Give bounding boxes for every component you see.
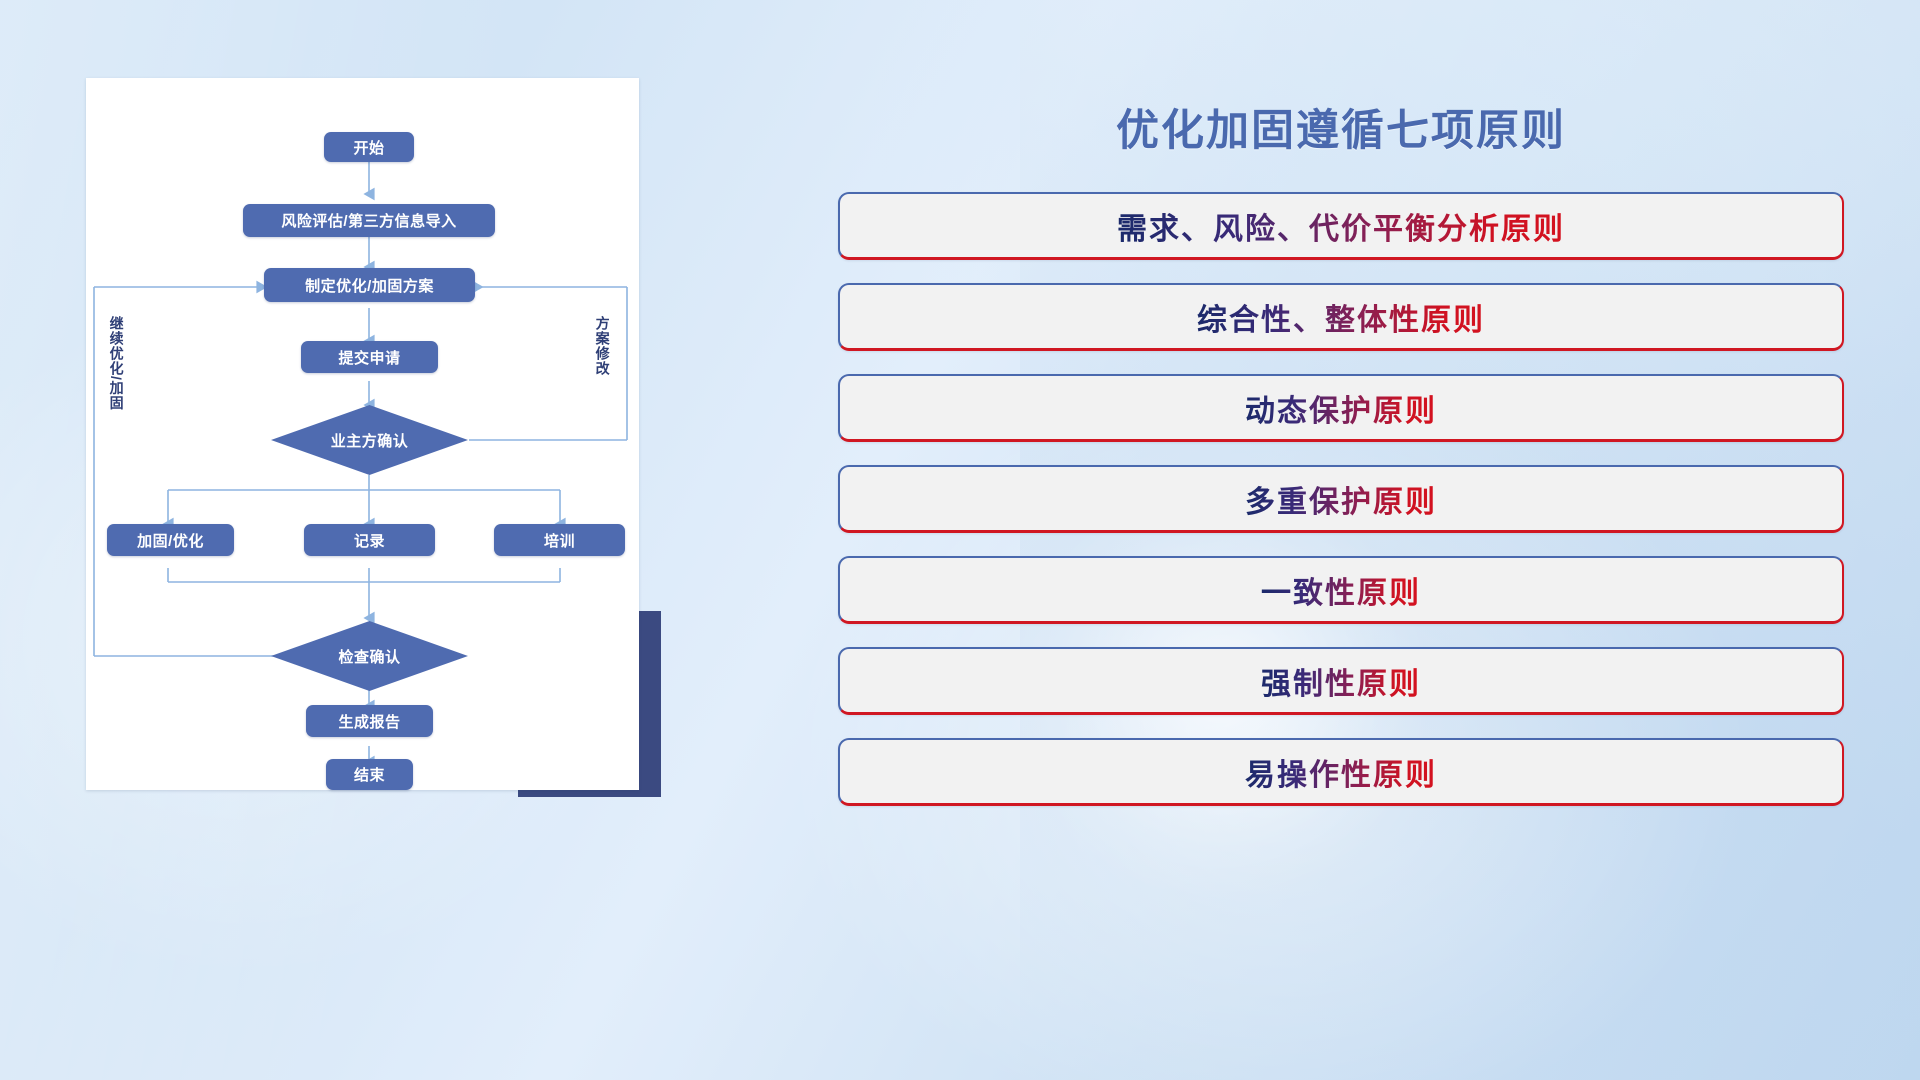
flow-node-end[interactable]: 结束 — [326, 759, 413, 790]
principle-label: 一致性原则 — [1261, 568, 1421, 612]
edge-label-right-loop: 方案修改 — [594, 316, 610, 376]
principle-label: 多重保护原则 — [1245, 477, 1437, 521]
flow-node-risk-assessment[interactable]: 风险评估/第三方信息导入 — [243, 204, 495, 237]
principle-label: 综合性、整体性原则 — [1197, 295, 1485, 339]
flow-node-plan[interactable]: 制定优化/加固方案 — [264, 268, 475, 302]
principle-item-7[interactable]: 易操作性原则 — [838, 738, 1844, 806]
flow-node-record[interactable]: 记录 — [304, 524, 435, 556]
flow-node-owner-confirm[interactable]: 业主方确认 — [271, 405, 468, 475]
principles-list: 需求、风险、代价平衡分析原则 综合性、整体性原则 动态保护原则 多重保护原则 一… — [838, 192, 1844, 829]
principle-item-1[interactable]: 需求、风险、代价平衡分析原则 — [838, 192, 1844, 260]
principles-panel: 优化加固遵循七项原则 需求、风险、代价平衡分析原则 综合性、整体性原则 动态保护… — [836, 80, 1846, 1020]
principle-item-5[interactable]: 一致性原则 — [838, 556, 1844, 624]
flow-node-submit-application[interactable]: 提交申请 — [301, 341, 438, 373]
flow-node-training[interactable]: 培训 — [494, 524, 625, 556]
flow-node-generate-report[interactable]: 生成报告 — [306, 705, 433, 737]
principle-label: 需求、风险、代价平衡分析原则 — [1117, 204, 1565, 248]
diamond-shape — [271, 621, 468, 691]
edge-label-left-loop: 继续优化/加固 — [108, 316, 124, 411]
page-title: 优化加固遵循七项原则 — [836, 96, 1846, 158]
principle-item-4[interactable]: 多重保护原则 — [838, 465, 1844, 533]
principle-label: 强制性原则 — [1261, 659, 1421, 703]
principle-item-3[interactable]: 动态保护原则 — [838, 374, 1844, 442]
principle-item-2[interactable]: 综合性、整体性原则 — [838, 283, 1844, 351]
principle-label: 动态保护原则 — [1245, 386, 1437, 430]
flowchart-card: 继续优化/加固 方案修改 开始 风险评估/第三方信息导入 制定优化/加固方案 提… — [86, 78, 639, 790]
flow-node-start[interactable]: 开始 — [324, 132, 414, 162]
diamond-shape — [271, 405, 468, 475]
principle-label: 易操作性原则 — [1245, 750, 1437, 794]
flow-node-check-confirm[interactable]: 检查确认 — [271, 621, 468, 691]
principle-item-6[interactable]: 强制性原则 — [838, 647, 1844, 715]
flowchart: 继续优化/加固 方案修改 开始 风险评估/第三方信息导入 制定优化/加固方案 提… — [86, 78, 639, 790]
flow-node-reinforce[interactable]: 加固/优化 — [107, 524, 234, 556]
